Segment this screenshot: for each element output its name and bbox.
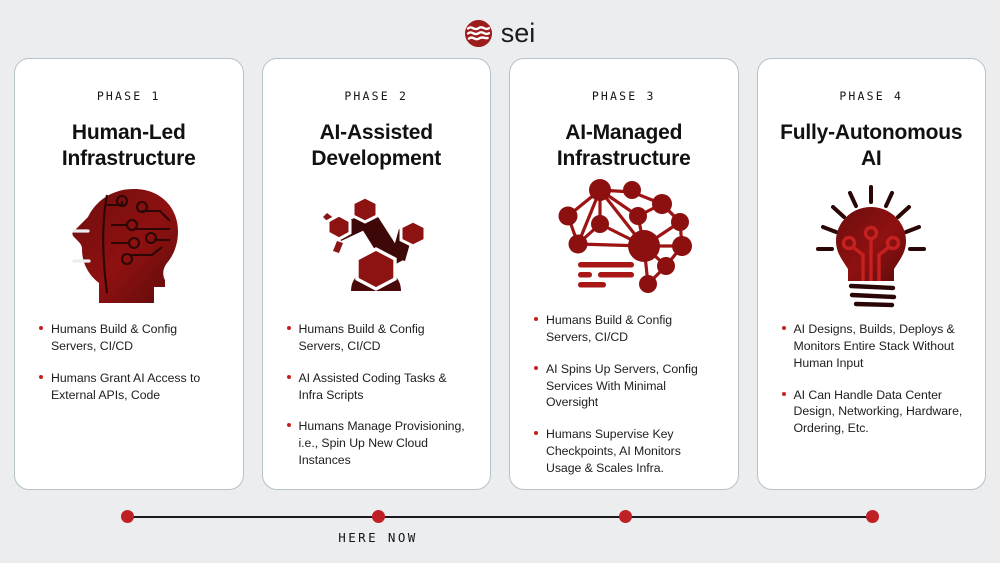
phase-bullet-list: AI Designs, Builds, Deploys & Monitors E… — [776, 321, 968, 437]
sei-wave-logo-icon — [465, 20, 492, 47]
phase-bullet-list: Humans Build & Config Servers, CI/CD AI … — [528, 312, 720, 477]
phase-card-list: PHASE 1 Human-Led Infrastructure — [14, 58, 986, 490]
timeline-dot-4[interactable] — [866, 510, 879, 523]
robot-arm-icon — [281, 178, 473, 313]
phase-label: PHASE 1 — [97, 89, 161, 103]
phase-card-3[interactable]: PHASE 3 AI-Managed Infrastructure — [509, 58, 739, 490]
neural-network-brain-icon — [528, 178, 720, 304]
infographic-page: sei PHASE 1 Human-Led Infrastructure — [0, 0, 1000, 563]
list-item: AI Designs, Builds, Deploys & Monitors E… — [782, 321, 966, 372]
phase-card-1[interactable]: PHASE 1 Human-Led Infrastructure — [14, 58, 244, 490]
page-title: AI-Managed Infrastructure — [528, 120, 720, 174]
page-title: AI-Assisted Development — [281, 120, 473, 174]
phase-card-2[interactable]: PHASE 2 AI-Assisted Development — [262, 58, 492, 490]
phase-bullet-list: Humans Build & Config Servers, CI/CD AI … — [281, 321, 473, 469]
list-item: AI Assisted Coding Tasks & Infra Scripts — [287, 370, 471, 404]
timeline-dot-3[interactable] — [619, 510, 632, 523]
timeline-track — [127, 516, 872, 518]
here-now-marker-label: HERE NOW — [278, 530, 478, 545]
list-item: Humans Grant AI Access to External APIs,… — [39, 370, 223, 404]
list-item: Humans Build & Config Servers, CI/CD — [534, 312, 718, 346]
brand-header: sei — [0, 16, 1000, 50]
page-title: Human-Led Infrastructure — [33, 120, 225, 174]
phase-card-4[interactable]: PHASE 4 Fully-Autonomous AI — [757, 58, 987, 490]
timeline-dot-2[interactable] — [372, 510, 385, 523]
list-item: Humans Manage Provisioning, i.e., Spin U… — [287, 418, 471, 469]
timeline-dot-1[interactable] — [121, 510, 134, 523]
list-item: AI Spins Up Servers, Config Services Wit… — [534, 361, 718, 412]
list-item: Humans Build & Config Servers, CI/CD — [39, 321, 223, 355]
ai-head-circuit-icon — [33, 178, 225, 313]
page-title: Fully-Autonomous AI — [776, 120, 968, 174]
phase-label: PHASE 4 — [839, 89, 903, 103]
list-item: Humans Supervise Key Checkpoints, AI Mon… — [534, 426, 718, 477]
list-item: Humans Build & Config Servers, CI/CD — [287, 321, 471, 355]
phase-timeline: HERE NOW — [0, 500, 1000, 563]
list-item: AI Can Handle Data Center Design, Networ… — [782, 387, 966, 438]
brand-name: sei — [501, 20, 536, 47]
phase-label: PHASE 3 — [592, 89, 656, 103]
phase-bullet-list: Humans Build & Config Servers, CI/CD Hum… — [33, 321, 225, 403]
phase-label: PHASE 2 — [344, 89, 408, 103]
lightbulb-circuit-icon — [776, 178, 968, 313]
